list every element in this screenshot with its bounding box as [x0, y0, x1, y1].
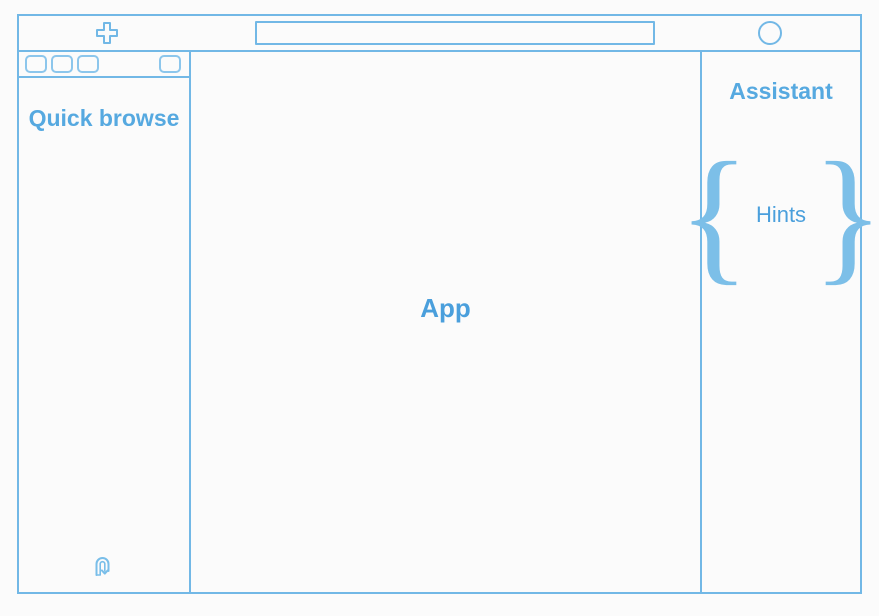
plus-icon[interactable]	[95, 21, 119, 45]
hints-block: { Hints }	[702, 161, 860, 269]
hints-label: Hints	[750, 202, 812, 228]
sidebar-footer	[19, 540, 189, 592]
brace-left-icon: {	[678, 161, 750, 269]
sidebar-tool-button-4[interactable]	[159, 55, 181, 73]
sidebar-panel: Quick browse	[19, 52, 191, 592]
brace-right-icon: }	[812, 161, 879, 269]
assistant-panel: Assistant { Hints }	[702, 52, 860, 592]
app-panel: App	[191, 52, 702, 592]
top-bar	[19, 16, 860, 52]
sidebar-content-area	[19, 133, 189, 540]
sidebar-tool-button-1[interactable]	[25, 55, 47, 73]
wireframe-frame: Quick browse App Assistant {	[17, 14, 862, 594]
u-turn-arrow-icon[interactable]	[90, 552, 118, 580]
assistant-title: Assistant	[729, 78, 833, 105]
sidebar-toolbar	[19, 52, 189, 78]
sidebar-tool-button-2[interactable]	[51, 55, 73, 73]
search-input[interactable]	[257, 23, 653, 43]
app-title: App	[420, 293, 471, 324]
search-field[interactable]	[255, 21, 655, 45]
sidebar-tool-button-3[interactable]	[77, 55, 99, 73]
circle-avatar-icon[interactable]	[758, 21, 782, 45]
sidebar-title: Quick browse	[19, 104, 189, 133]
top-bar-right-section	[680, 16, 860, 50]
top-bar-center-section	[195, 16, 680, 50]
top-bar-left-section	[19, 16, 195, 50]
body-area: Quick browse App Assistant {	[19, 52, 860, 592]
